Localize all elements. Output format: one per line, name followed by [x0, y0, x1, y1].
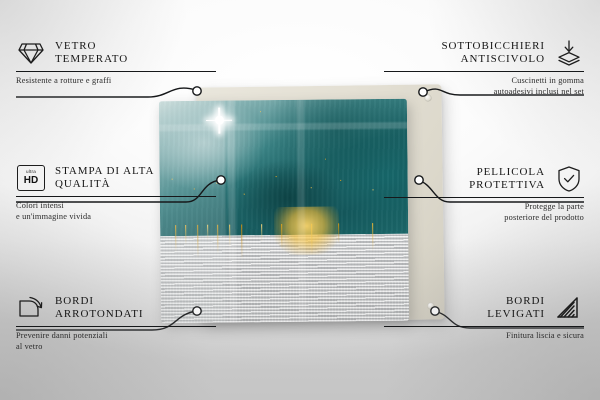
- feature-subtitle: Prevenire danni potenziali al vetro: [16, 331, 216, 352]
- artwork-gold-drips-fine: [160, 223, 408, 274]
- feature-title-line: PROTETTIVA: [469, 179, 545, 193]
- hd-badge-large-text: HD: [24, 176, 38, 186]
- feature-divider: [16, 326, 216, 327]
- feature-subtitle: Resistente a rotture e graffi: [16, 76, 216, 87]
- rounded-corner-icon: [16, 293, 46, 323]
- feature-subtitle-line: e un'immagine vivida: [16, 212, 216, 223]
- feature-subtitle-line: posteriore del prodotto: [384, 213, 584, 224]
- diamond-icon: [16, 38, 46, 68]
- feature-title-line: ANTISCIVOLO: [441, 53, 545, 67]
- feature-subtitle-line: Prevenire danni potenziali: [16, 331, 216, 342]
- feature-stampa-alta-qualita: ultra HD STAMPA DI ALTA QUALITÀ Colori i…: [16, 163, 216, 223]
- feature-sottobicchieri-antiscivolo: SOTTOBICCHIERI ANTISCIVOLO Cuscinetti in…: [384, 38, 584, 98]
- ultra-hd-badge-icon: ultra HD: [16, 163, 46, 193]
- feature-subtitle: Protegge la parte posteriore del prodott…: [384, 202, 584, 223]
- feature-title-line: ARROTONDATI: [55, 308, 143, 322]
- feature-subtitle: Cuscinetti in gomma autoadesivi inclusi …: [384, 76, 584, 97]
- feature-divider: [384, 197, 584, 198]
- feature-vetro-temperato: VETRO TEMPERATO Resistente a rotture e g…: [16, 38, 216, 87]
- feature-pellicola-protettiva: PELLICOLA PROTETTIVA Protegge la parte p…: [384, 164, 584, 224]
- feature-title-line: TEMPERATO: [55, 53, 128, 67]
- feature-subtitle-line: autoadesivi inclusi nel set: [384, 87, 584, 98]
- anti-slip-pad-icon: [554, 38, 584, 68]
- feature-bordi-arrotondati: BORDI ARROTONDATI Prevenire danni potenz…: [16, 293, 216, 353]
- feature-divider: [384, 326, 584, 327]
- feature-subtitle-line: Protegge la parte: [384, 202, 584, 213]
- feature-title-line: STAMPA DI ALTA: [55, 165, 154, 179]
- feature-subtitle: Colori intensi e un'immagine vivida: [16, 201, 216, 222]
- feature-bordi-levigati: BORDI LEVIGATI Finitura liscia e sicura: [384, 293, 584, 342]
- feature-title: SOTTOBICCHIERI ANTISCIVOLO: [441, 40, 545, 67]
- feature-title-line: BORDI: [55, 295, 143, 309]
- feature-title-line: SOTTOBICCHIERI: [441, 40, 545, 54]
- feature-title-line: QUALITÀ: [55, 178, 154, 192]
- feature-title: VETRO TEMPERATO: [55, 40, 128, 67]
- feature-subtitle-line: Colori intensi: [16, 201, 216, 212]
- feature-divider: [16, 196, 216, 197]
- shield-check-icon: [554, 164, 584, 194]
- feature-title: BORDI LEVIGATI: [487, 295, 545, 322]
- feature-subtitle-line: Cuscinetti in gomma: [384, 76, 584, 87]
- feature-title-line: VETRO: [55, 40, 128, 54]
- feature-subtitle-line: al vetro: [16, 342, 216, 353]
- feature-title: PELLICOLA PROTETTIVA: [469, 166, 545, 193]
- feature-title: BORDI ARROTONDATI: [55, 295, 143, 322]
- feature-title: STAMPA DI ALTA QUALITÀ: [55, 165, 154, 192]
- feature-divider: [384, 71, 584, 72]
- feature-title-line: PELLICOLA: [469, 166, 545, 180]
- feature-title-line: LEVIGATI: [487, 308, 545, 322]
- feature-subtitle: Finitura liscia e sicura: [384, 331, 584, 342]
- feature-subtitle-line: Resistente a rotture e graffi: [16, 76, 216, 87]
- feature-subtitle-line: Finitura liscia e sicura: [384, 331, 584, 342]
- product-feature-infographic: VETRO TEMPERATO Resistente a rotture e g…: [0, 0, 600, 400]
- feature-divider: [16, 71, 216, 72]
- feature-title-line: BORDI: [487, 295, 545, 309]
- polished-edge-icon: [554, 293, 584, 323]
